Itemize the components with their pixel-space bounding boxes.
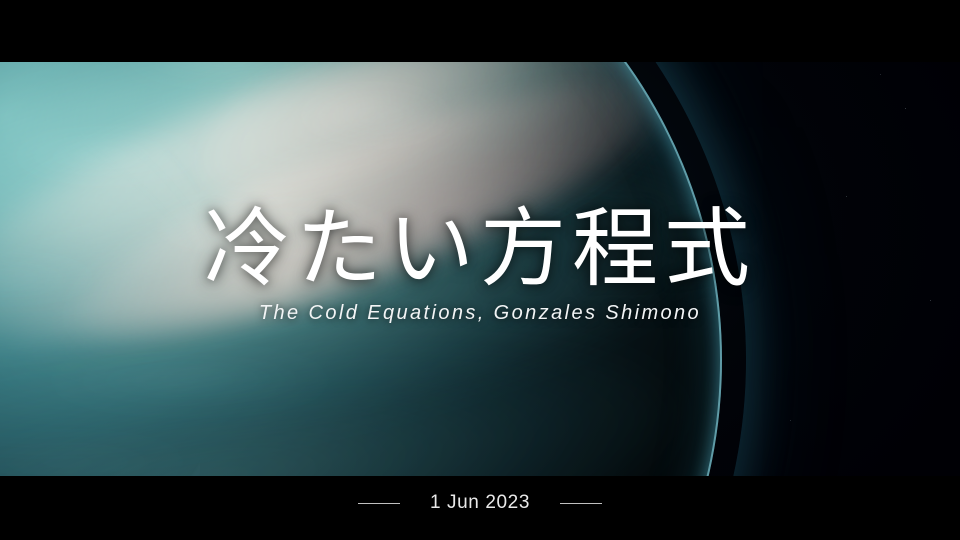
title-card: 冷たい方程式 The Cold Equations, Gonzales Shim…: [0, 0, 960, 540]
star: [880, 74, 881, 75]
rule-left-decoration: [358, 503, 400, 504]
title-block: 冷たい方程式 The Cold Equations, Gonzales Shim…: [0, 206, 960, 325]
date-footer: 1 Jun 2023: [0, 491, 960, 515]
letterbox-bar-top: [0, 0, 960, 62]
date-label: 1 Jun 2023: [430, 492, 530, 514]
subtitle: The Cold Equations, Gonzales Shimono: [0, 302, 960, 325]
main-title: 冷たい方程式: [0, 206, 960, 292]
rule-right-decoration: [560, 503, 602, 504]
